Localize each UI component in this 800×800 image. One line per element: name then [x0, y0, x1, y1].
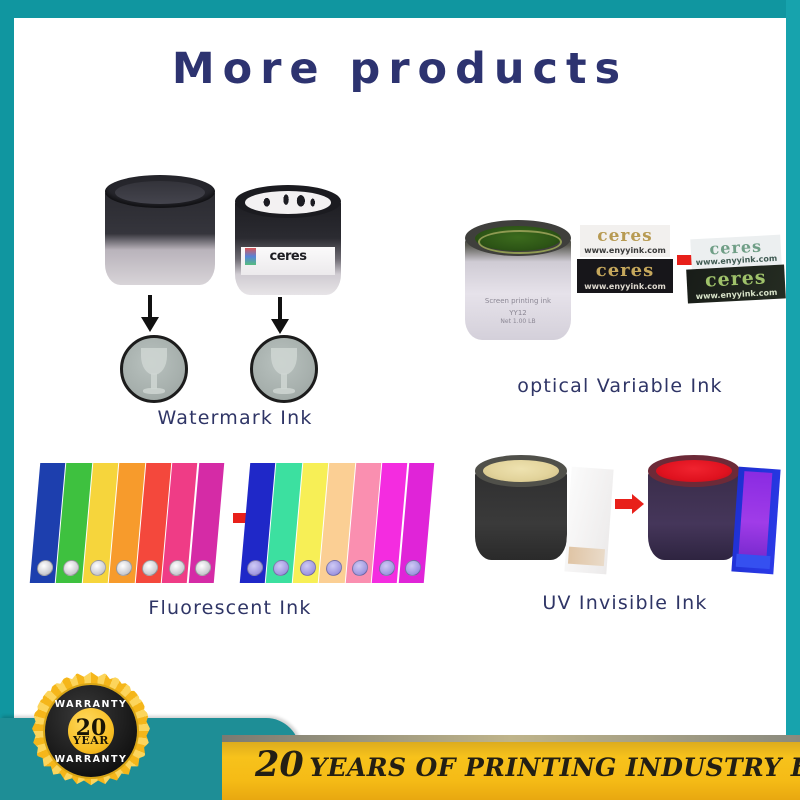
- watermark-sample-left: [120, 335, 188, 403]
- badge-bottom-text: WARRANTY: [45, 754, 137, 765]
- uv-test-card-under-uv: [731, 467, 780, 575]
- label-brand: ceres: [241, 249, 334, 264]
- ovi-card-before-black: ceres www.enyyink.com: [577, 259, 673, 293]
- card-mark: [568, 547, 604, 566]
- caption-watermark-ink: Watermark Ink: [95, 407, 375, 429]
- product-uv-invisible-ink: UV Invisible Ink: [465, 450, 785, 625]
- ink-splash: [252, 192, 326, 210]
- caption-optical-variable-ink: optical Variable Ink: [455, 375, 785, 397]
- strip-seal-dot: [89, 560, 106, 576]
- can-inner-ring: [478, 230, 563, 254]
- can-text-line-3: Net 1.00 LB: [465, 318, 571, 325]
- uv-can-under-uv: [648, 455, 740, 560]
- watermark-can-ceres: ceres: [235, 185, 341, 295]
- strip-seal-dot: [378, 560, 395, 576]
- banner-highlight: [222, 735, 800, 742]
- banner-tagline: 20 YEARS OF PRINTING INDUSTRY EXPERIENCE: [255, 744, 795, 785]
- border-right: [786, 0, 800, 760]
- caption-uv-invisible-ink: UV Invisible Ink: [465, 592, 785, 614]
- can-ink-surface: [115, 181, 205, 204]
- strip-seal-dot: [115, 560, 132, 576]
- uv-can-normal: [475, 455, 567, 560]
- product-optical-variable-ink: Screen printing ink YY12 Net 1.00 LB cer…: [455, 215, 785, 405]
- badge-unit: YEAR: [68, 734, 114, 747]
- optical-variable-ink-can: Screen printing ink YY12 Net 1.00 LB: [465, 220, 571, 340]
- strip-seal-dot: [352, 560, 369, 576]
- watermark-sample-right: [250, 335, 318, 403]
- arrow-right-red-icon: [615, 494, 645, 514]
- warranty-badge-icon: WARRANTY WARRANTY 20 YEAR: [32, 672, 150, 790]
- product-watermark-ink: ceres Watermark Ink: [95, 175, 375, 435]
- can-label: ceres: [241, 247, 334, 276]
- watermark-can-dark: [105, 175, 215, 285]
- border-left: [0, 0, 14, 760]
- fluorescent-strips-normal: [30, 463, 225, 583]
- can-text-line-1: Screen printing ink: [465, 297, 571, 305]
- badge-core: 20 YEAR: [68, 708, 114, 754]
- strip-seal-dot: [195, 560, 212, 576]
- card-glow: [738, 471, 772, 557]
- caption-fluorescent-ink: Fluorescent Ink: [15, 597, 445, 619]
- strip-seal-dot: [299, 560, 316, 576]
- strip-seal-dot: [142, 560, 159, 576]
- badge-ring: WARRANTY WARRANTY 20 YEAR: [45, 685, 137, 777]
- banner-years-number: 20: [255, 744, 304, 785]
- ovi-card-after-white: ceres www.enyyink.com: [690, 235, 781, 270]
- strip-seal-dot: [62, 560, 79, 576]
- card-mark: [736, 554, 770, 569]
- uv-test-card-normal: [564, 467, 613, 575]
- border-top: [0, 0, 800, 18]
- strip-seal-dot: [272, 560, 289, 576]
- ovi-card-before-white: ceres www.enyyink.com: [580, 225, 670, 257]
- product-fluorescent-ink: Fluorescent Ink: [15, 455, 445, 630]
- card-url: www.enyyink.com: [577, 282, 673, 291]
- strip-seal-dot: [405, 560, 422, 576]
- card-brand: ceres: [580, 226, 670, 246]
- strip-seal-dot: [325, 560, 342, 576]
- banner-tagline-text: YEARS OF PRINTING INDUSTRY EXPERIENCE: [309, 753, 800, 782]
- can-text-line-2: YY12: [465, 309, 571, 317]
- card-brand: ceres: [577, 260, 673, 281]
- ovi-card-after-black: ceres www.enyyink.com: [686, 264, 786, 303]
- page-title: More products: [0, 44, 800, 94]
- strip-seal-dot: [168, 560, 185, 576]
- fluorescent-strips-uv: [240, 463, 435, 583]
- strip-seal-dot: [246, 560, 263, 576]
- card-url: www.enyyink.com: [580, 246, 670, 255]
- strip-seal-dot: [36, 560, 53, 576]
- product-showcase-page: More products ceres: [0, 0, 800, 800]
